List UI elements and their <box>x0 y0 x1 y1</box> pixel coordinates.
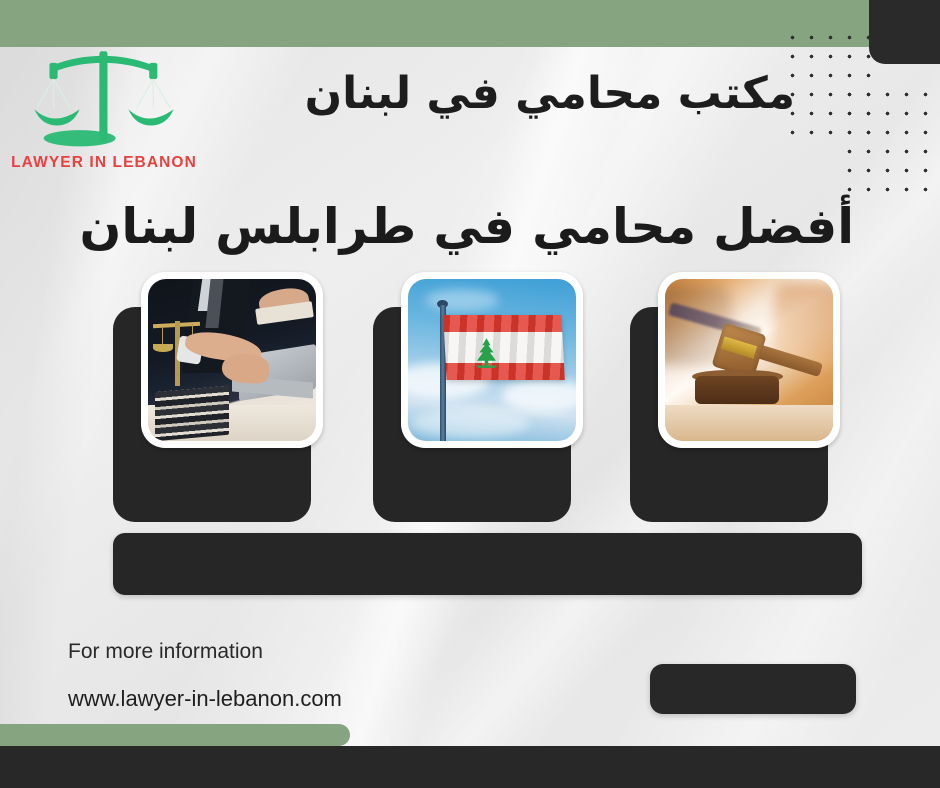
footer-website[interactable]: www.lawyer-in-lebanon.com <box>68 686 342 712</box>
empty-dark-banner-bar <box>113 533 862 595</box>
card-lebanon-flag <box>373 272 583 522</box>
brand-logo: LAWYER IN LEBANON <box>8 42 200 190</box>
cedar-tree-icon <box>468 337 505 373</box>
poster-canvas: LAWYER IN LEBANON مكتب محامي في لبنان أف… <box>0 0 940 788</box>
lebanon-flag-photo <box>408 279 576 441</box>
card-photo-frame <box>401 272 583 448</box>
card-lawyers-desk <box>113 272 323 522</box>
card-photo-frame <box>658 272 840 448</box>
scales-of-justice-icon <box>8 42 200 158</box>
card-photo-frame <box>141 272 323 448</box>
lawyers-at-desk-photo <box>148 279 316 441</box>
bottom-green-bar <box>0 724 350 746</box>
headline-primary: مكتب محامي في لبنان <box>305 68 795 119</box>
footer-info-label: For more information <box>68 640 263 664</box>
card-gavel <box>630 272 840 522</box>
headline-secondary: أفضل محامي في طرابلس لبنان <box>80 198 854 255</box>
logo-wordmark: LAWYER IN LEBANON <box>8 154 200 172</box>
judge-gavel-photo <box>665 279 833 441</box>
dot-grid-pattern <box>836 81 933 197</box>
rounded-square-block <box>869 0 940 64</box>
bottom-dark-bar <box>0 746 940 788</box>
empty-dark-pill-button[interactable] <box>650 664 856 714</box>
